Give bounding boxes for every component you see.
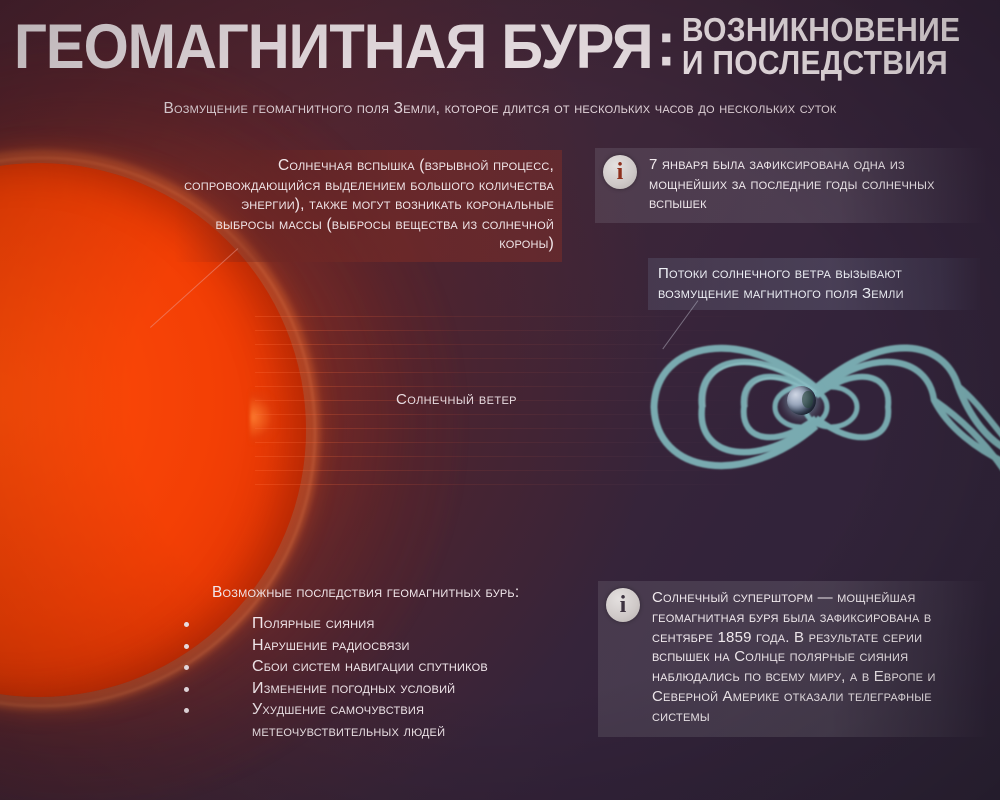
list-item: метеочувствительных людей	[212, 722, 612, 743]
page-title: ГЕОМАГНИТНАЯ БУРЯ : ВОЗНИКНОВЕНИЕ И ПОСЛ…	[14, 14, 986, 94]
magnetosphere-diagram	[648, 300, 1000, 515]
info-icon: i	[606, 588, 640, 622]
earth-icon	[787, 386, 816, 415]
info-callout-superstorm-1859: i Солнечный супершторм — мощнейшая геома…	[598, 581, 988, 737]
info-icon: i	[603, 155, 637, 189]
list-item: Сбои систем навигации спутников	[212, 657, 612, 678]
list-item: Нарушение радиосвязи	[212, 636, 612, 657]
consequences-block: Возможные последствия геомагнитных бурь:…	[212, 584, 612, 743]
info-callout-flare-january: i 7 января была зафиксирована одна из мо…	[595, 148, 987, 223]
list-item: Ухудшение самочувствия	[212, 700, 612, 721]
list-item: Изменение погодных условий	[212, 679, 612, 700]
headline-colon: :	[657, 12, 676, 79]
info-callout-superstorm-1859-text: Солнечный супершторм — мощнейшая геомагн…	[652, 588, 976, 727]
magnetosphere-svg	[648, 300, 1000, 515]
headline-sub-line1: ВОЗНИКНОВЕНИЕ	[682, 12, 960, 49]
consequences-list: Полярные сияния Нарушение радиосвязи Сбо…	[212, 614, 612, 742]
solar-wind-callout-text: Потоки солнечного ветра вызывают возмуще…	[658, 265, 904, 302]
solar-wind-callout: Потоки солнечного ветра вызывают возмуще…	[648, 258, 980, 310]
info-callout-flare-january-text: 7 января была зафиксирована одна из мощн…	[649, 155, 977, 214]
infographic-poster: ГЕОМАГНИТНАЯ БУРЯ : ВОЗНИКНОВЕНИЕ И ПОСЛ…	[0, 0, 1000, 800]
consequences-title: Возможные последствия геомагнитных бурь:	[212, 584, 612, 602]
page-subtitle: Возмущение геомагнитного поля Земли, кот…	[0, 100, 1000, 118]
headline-main: ГЕОМАГНИТНАЯ БУРЯ	[14, 14, 653, 81]
solar-flare-callout: Солнечная вспышка (взрывной процесс, соп…	[174, 150, 562, 262]
solar-flare-text: Солнечная вспышка (взрывной процесс, соп…	[184, 157, 554, 252]
solar-wind-label: Солнечный ветер	[396, 391, 517, 408]
headline-sub-line2: И ПОСЛЕДСТВИЯ	[682, 45, 960, 82]
list-item: Полярные сияния	[212, 614, 612, 635]
